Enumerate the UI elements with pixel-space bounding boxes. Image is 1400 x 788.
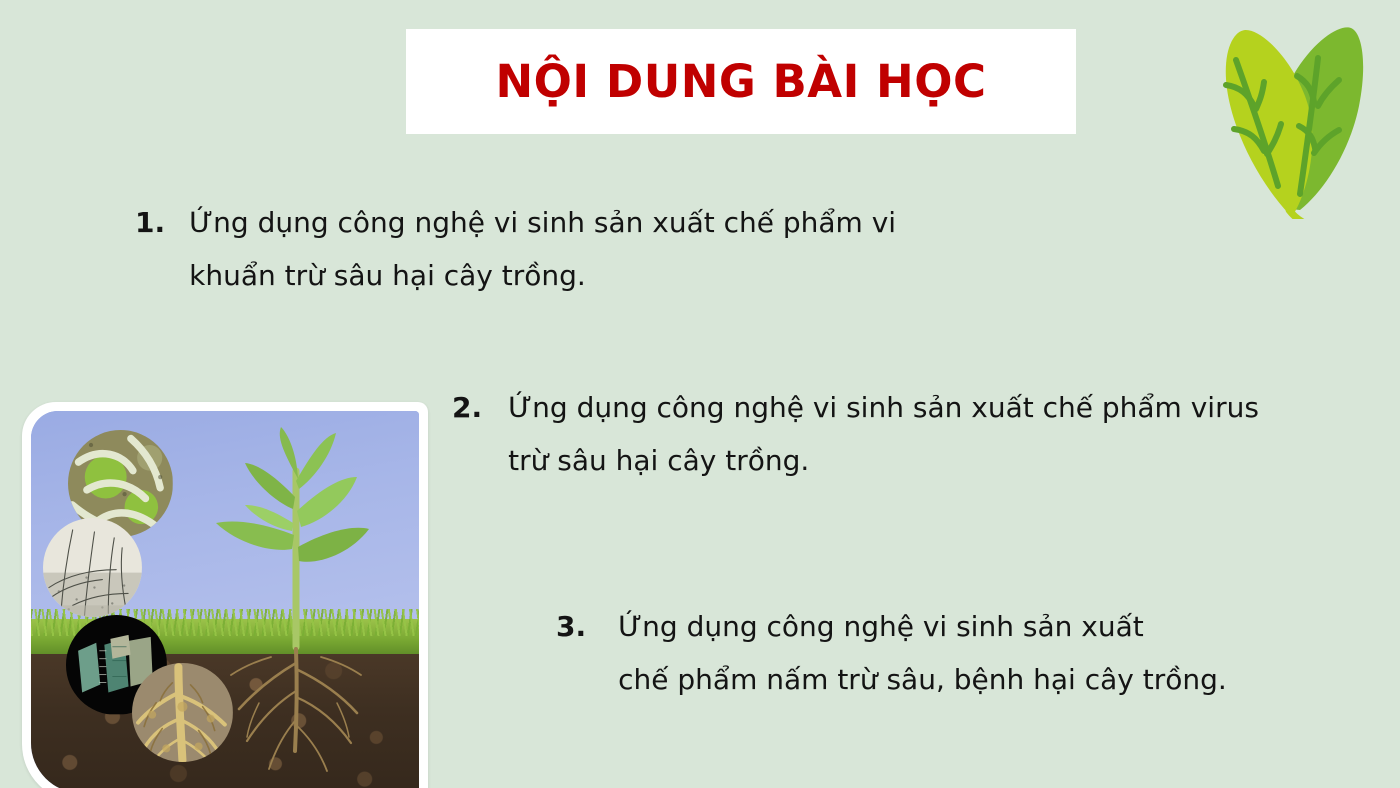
photo-image xyxy=(31,411,419,788)
list-item-label: Ứng dụng công nghệ vi sinh sản xuất chế … xyxy=(508,381,1259,487)
infected-root-closeup-inset xyxy=(132,663,233,762)
list-item-number: 3. xyxy=(556,600,586,706)
leaves-svg xyxy=(1185,14,1400,219)
hyphae-micrograph-svg xyxy=(43,518,142,617)
list-item[interactable]: 2. Ứng dụng công nghệ vi sinh sản xuất c… xyxy=(452,381,1259,487)
plant-roots xyxy=(231,649,361,771)
list-item[interactable]: 3. Ứng dụng công nghệ vi sinh sản xuất c… xyxy=(556,600,1227,706)
leaf-stem xyxy=(1289,210,1311,219)
root-closeup-svg xyxy=(132,663,233,762)
list-item-label: Ứng dụng công nghệ vi sinh sản xuất chế … xyxy=(189,196,896,302)
two-leaves-icon xyxy=(1185,14,1400,219)
list-item-number: 2. xyxy=(452,381,482,487)
slide-canvas: NỘI DUNG BÀI HỌC xyxy=(0,0,1400,788)
title-banner: NỘI DUNG BÀI HỌC xyxy=(406,29,1076,134)
list-item-number: 1. xyxy=(135,196,165,302)
fungal-hyphae-micrograph-inset xyxy=(43,518,142,617)
list-item-label: Ứng dụng công nghệ vi sinh sản xuất chế … xyxy=(618,600,1227,706)
list-item[interactable]: 1. Ứng dụng công nghệ vi sinh sản xuất c… xyxy=(135,196,896,302)
illustration-photo-card xyxy=(22,402,428,788)
page-title: NỘI DUNG BÀI HỌC xyxy=(496,59,987,104)
